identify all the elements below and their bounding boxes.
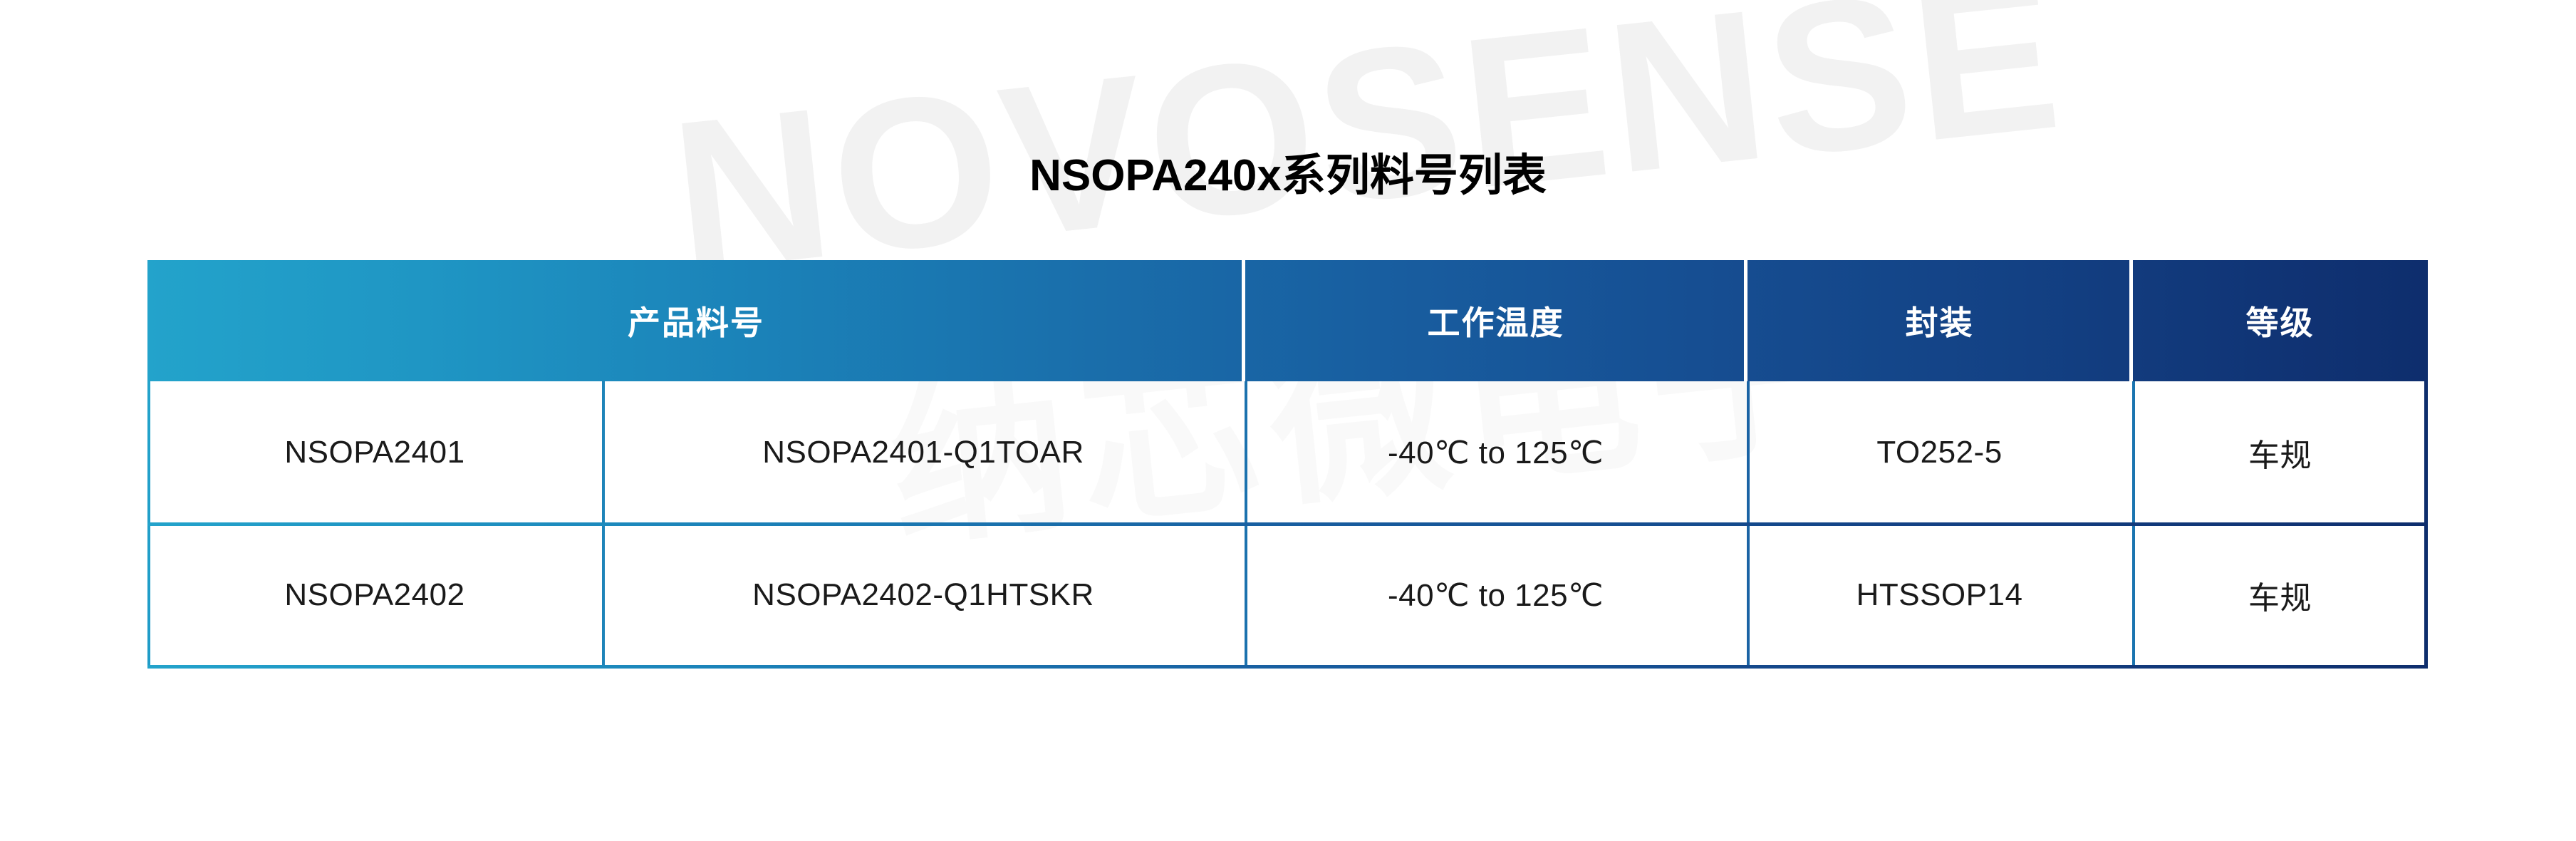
column-header-grade: 等级 xyxy=(2132,260,2428,381)
cell-part-number: NSOPA2402-Q1HTSKR xyxy=(602,524,1245,666)
cell-model: NSOPA2401 xyxy=(147,381,602,524)
header-separator xyxy=(1242,260,1245,381)
column-header-product-part-number: 产品料号 xyxy=(147,260,1245,381)
cell-part-number: NSOPA2401-Q1TOAR xyxy=(602,381,1245,524)
cell-operating-temperature: -40℃ to 125℃ xyxy=(1245,381,1747,524)
page-title: NSOPA240x系列料号列表 xyxy=(0,139,2576,203)
table-header-row: 产品料号 工作温度 封装 等级 xyxy=(147,260,2428,381)
table-row: NSOPA2402 NSOPA2402-Q1HTSKR -40℃ to 125℃… xyxy=(147,524,2428,666)
column-header-package: 封装 xyxy=(1747,260,2132,381)
cell-operating-temperature: -40℃ to 125℃ xyxy=(1245,524,1747,666)
cell-grade: 车规 xyxy=(2132,381,2428,524)
header-separator xyxy=(2129,260,2133,381)
cell-grade: 车规 xyxy=(2132,524,2428,666)
cell-package: HTSSOP14 xyxy=(1747,524,2132,666)
row-divider xyxy=(147,522,2428,526)
cell-model: NSOPA2402 xyxy=(147,524,602,666)
table-row: NSOPA2401 NSOPA2401-Q1TOAR -40℃ to 125℃ … xyxy=(147,381,2428,524)
product-part-number-table: 产品料号 工作温度 封装 等级 NSOPA2401 NSOPA2401-Q1TO… xyxy=(147,260,2428,669)
cell-package: TO252-5 xyxy=(1747,381,2132,524)
column-header-operating-temperature: 工作温度 xyxy=(1245,260,1747,381)
table-border-bottom xyxy=(147,665,2428,669)
header-separator xyxy=(1744,260,1747,381)
